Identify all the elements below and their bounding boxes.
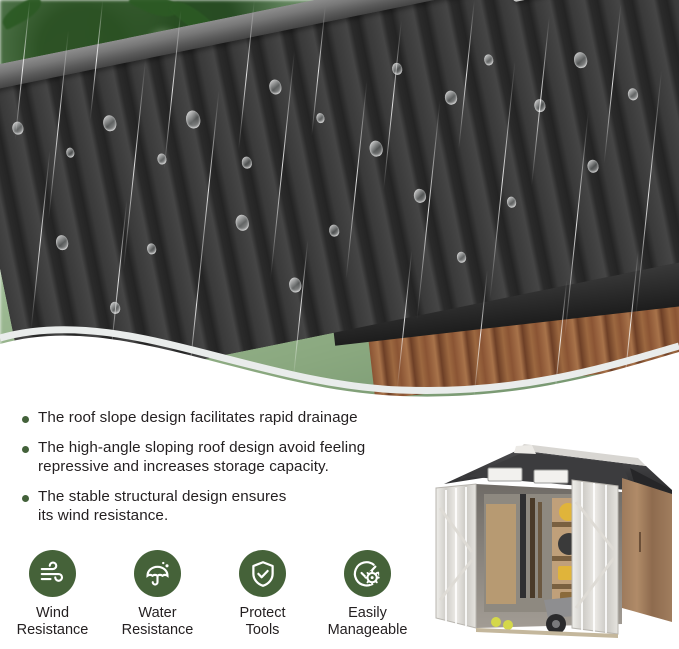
bullet-text: The stable structural design ensures its… bbox=[38, 487, 298, 525]
feature-label-line2: Tools bbox=[246, 622, 280, 638]
shield-check-icon-badge bbox=[239, 550, 286, 597]
bullet-item: The roof slope design facilitates rapid … bbox=[0, 408, 440, 427]
bullet-dot-icon bbox=[22, 446, 29, 453]
bullet-dot-icon bbox=[22, 416, 29, 423]
check-gear-icon-badge bbox=[344, 550, 391, 597]
feature-protect-tools: Protect Tools bbox=[210, 550, 315, 639]
feature-label-line1: Water bbox=[138, 605, 176, 621]
shed-side-wall bbox=[622, 478, 672, 622]
wave-divider bbox=[0, 300, 679, 410]
feature-bullet-list: The roof slope design facilitates rapid … bbox=[0, 408, 440, 536]
shed-illustration bbox=[432, 432, 679, 649]
shed-vent-left bbox=[488, 468, 522, 481]
feature-easily-manageable: Easily Manageable bbox=[315, 550, 420, 639]
feature-label-line2: Resistance bbox=[122, 622, 194, 638]
feature-label: Wind Resistance bbox=[17, 605, 89, 639]
wind-icon bbox=[38, 559, 68, 589]
bullet-item: The high-angle sloping roof design avoid… bbox=[0, 438, 440, 476]
shield-check-icon bbox=[248, 559, 278, 589]
feature-label-line1: Easily bbox=[348, 605, 387, 621]
tool-shovel bbox=[520, 494, 526, 598]
wind-icon-badge bbox=[29, 550, 76, 597]
floor-item bbox=[491, 617, 501, 627]
umbrella-rain-icon bbox=[143, 559, 173, 589]
hero-rain-roof-photo bbox=[0, 0, 679, 410]
feature-label-line1: Protect bbox=[240, 605, 286, 621]
floor-item bbox=[503, 620, 513, 630]
bullet-dot-icon bbox=[22, 495, 29, 502]
shed-vent-right bbox=[534, 470, 568, 483]
feature-wind-resistance: Wind Resistance bbox=[0, 550, 105, 639]
tool-handle bbox=[538, 502, 542, 598]
bullet-text: The roof slope design facilitates rapid … bbox=[38, 408, 358, 427]
feature-label: Easily Manageable bbox=[328, 605, 408, 639]
feature-label-line2: Resistance bbox=[17, 622, 89, 638]
feature-label-line1: Wind bbox=[36, 605, 69, 621]
feature-water-resistance: Water Resistance bbox=[105, 550, 210, 639]
feature-label-line2: Manageable bbox=[328, 622, 408, 638]
feature-label: Water Resistance bbox=[122, 605, 194, 639]
wheelbarrow-hub bbox=[552, 620, 560, 628]
tool-rake bbox=[530, 498, 535, 598]
feature-label: Protect Tools bbox=[240, 605, 286, 639]
umbrella-rain-icon-badge bbox=[134, 550, 181, 597]
product-shed-photo bbox=[432, 432, 679, 649]
pegboard-left bbox=[486, 504, 516, 604]
check-gear-icon bbox=[352, 558, 383, 589]
feature-icon-row: Wind Resistance Water Resistance bbox=[0, 550, 420, 639]
bullet-text: The high-angle sloping roof design avoid… bbox=[38, 438, 440, 476]
bullet-item: The stable structural design ensures its… bbox=[0, 487, 440, 525]
product-feature-panel: The roof slope design facilitates rapid … bbox=[0, 0, 679, 649]
